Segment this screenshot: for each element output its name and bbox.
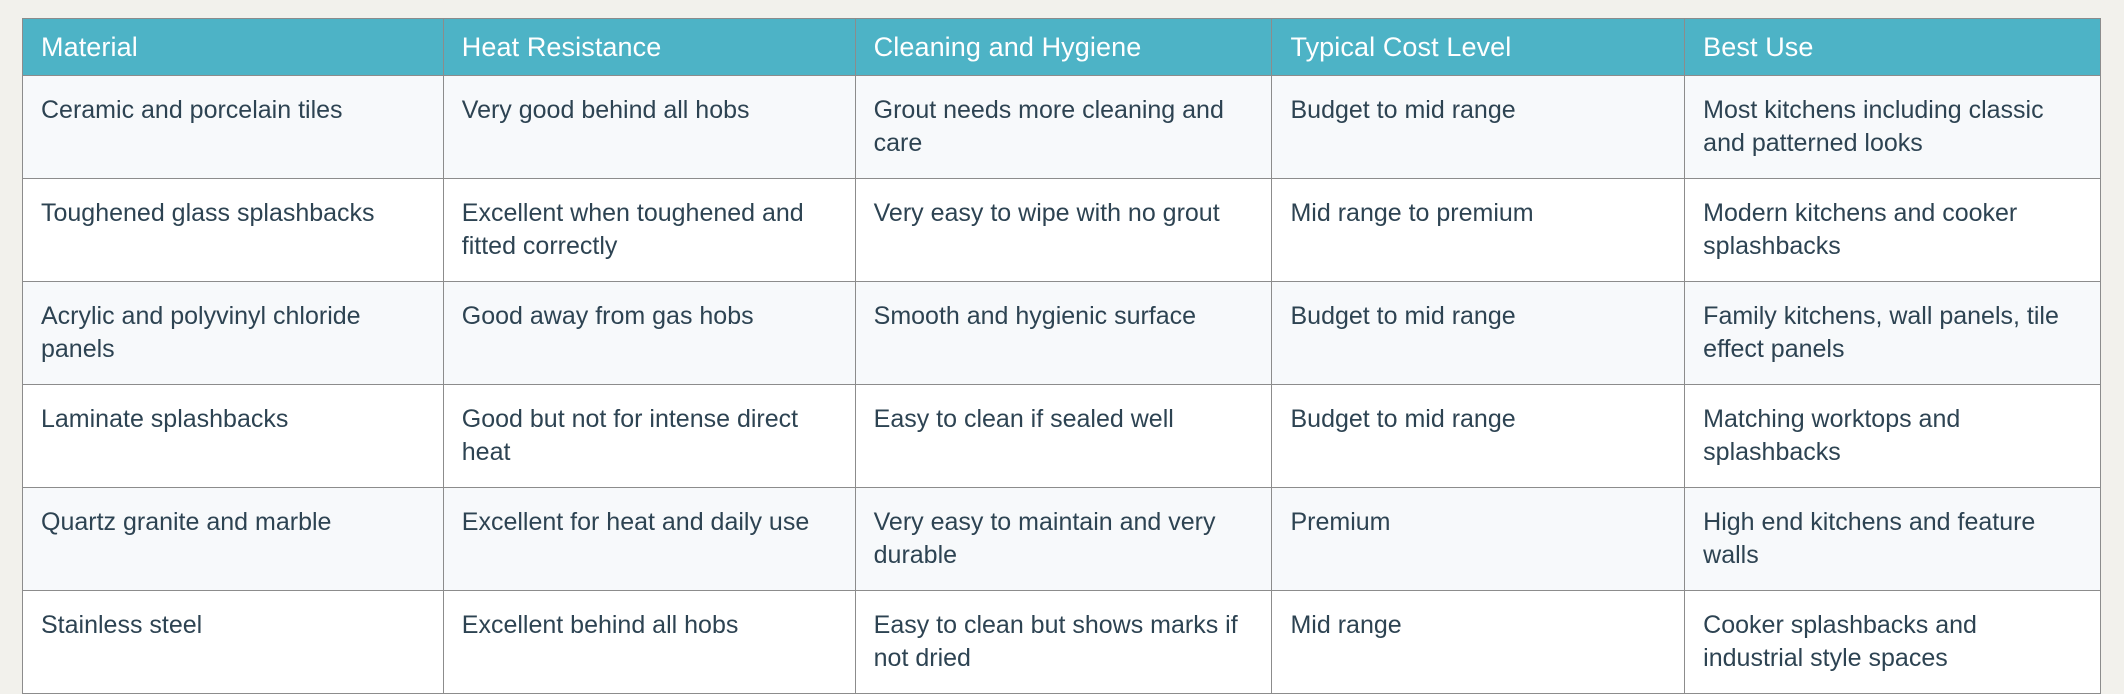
- column-header-typical-cost-level: Typical Cost Level: [1272, 19, 1685, 76]
- cell-material: Toughened glass splashbacks: [23, 179, 444, 282]
- cell-material: Quartz granite and marble: [23, 488, 444, 591]
- table-body: Ceramic and porcelain tiles Very good be…: [23, 76, 2101, 694]
- column-header-cleaning-and-hygiene: Cleaning and Hygiene: [855, 19, 1272, 76]
- splashback-material-comparison-table: Material Heat Resistance Cleaning and Hy…: [22, 18, 2101, 694]
- cell-best-use: Family kitchens, wall panels, tile effec…: [1685, 282, 2101, 385]
- cell-best-use: Most kitchens including classic and patt…: [1685, 76, 2101, 179]
- cell-best-use: Matching worktops and splashbacks: [1685, 385, 2101, 488]
- column-header-heat-resistance: Heat Resistance: [443, 19, 855, 76]
- cell-material: Laminate splashbacks: [23, 385, 444, 488]
- cell-cleaning-and-hygiene: Smooth and hygienic surface: [855, 282, 1272, 385]
- cell-typical-cost-level: Premium: [1272, 488, 1685, 591]
- table-header-row: Material Heat Resistance Cleaning and Hy…: [23, 19, 2101, 76]
- cell-material: Acrylic and polyvinyl chloride panels: [23, 282, 444, 385]
- cell-heat-resistance: Good but not for intense direct heat: [443, 385, 855, 488]
- cell-cleaning-and-hygiene: Easy to clean but shows marks if not dri…: [855, 591, 1272, 694]
- cell-cleaning-and-hygiene: Grout needs more cleaning and care: [855, 76, 1272, 179]
- cell-heat-resistance: Very good behind all hobs: [443, 76, 855, 179]
- table-row: Stainless steel Excellent behind all hob…: [23, 591, 2101, 694]
- column-header-best-use: Best Use: [1685, 19, 2101, 76]
- cell-heat-resistance: Excellent when toughened and fitted corr…: [443, 179, 855, 282]
- cell-material: Stainless steel: [23, 591, 444, 694]
- comparison-table-container: Material Heat Resistance Cleaning and Hy…: [22, 18, 2101, 694]
- table-row: Laminate splashbacks Good but not for in…: [23, 385, 2101, 488]
- table-header: Material Heat Resistance Cleaning and Hy…: [23, 19, 2101, 76]
- column-header-material: Material: [23, 19, 444, 76]
- cell-typical-cost-level: Budget to mid range: [1272, 76, 1685, 179]
- cell-material: Ceramic and porcelain tiles: [23, 76, 444, 179]
- table-row: Acrylic and polyvinyl chloride panels Go…: [23, 282, 2101, 385]
- cell-best-use: Cooker splashbacks and industrial style …: [1685, 591, 2101, 694]
- cell-typical-cost-level: Mid range: [1272, 591, 1685, 694]
- cell-typical-cost-level: Budget to mid range: [1272, 385, 1685, 488]
- cell-heat-resistance: Excellent for heat and daily use: [443, 488, 855, 591]
- cell-cleaning-and-hygiene: Very easy to maintain and very durable: [855, 488, 1272, 591]
- cell-heat-resistance: Good away from gas hobs: [443, 282, 855, 385]
- cell-heat-resistance: Excellent behind all hobs: [443, 591, 855, 694]
- cell-typical-cost-level: Mid range to premium: [1272, 179, 1685, 282]
- cell-best-use: High end kitchens and feature walls: [1685, 488, 2101, 591]
- cell-cleaning-and-hygiene: Very easy to wipe with no grout: [855, 179, 1272, 282]
- table-row: Quartz granite and marble Excellent for …: [23, 488, 2101, 591]
- table-row: Toughened glass splashbacks Excellent wh…: [23, 179, 2101, 282]
- cell-best-use: Modern kitchens and cooker splashbacks: [1685, 179, 2101, 282]
- cell-cleaning-and-hygiene: Easy to clean if sealed well: [855, 385, 1272, 488]
- cell-typical-cost-level: Budget to mid range: [1272, 282, 1685, 385]
- table-row: Ceramic and porcelain tiles Very good be…: [23, 76, 2101, 179]
